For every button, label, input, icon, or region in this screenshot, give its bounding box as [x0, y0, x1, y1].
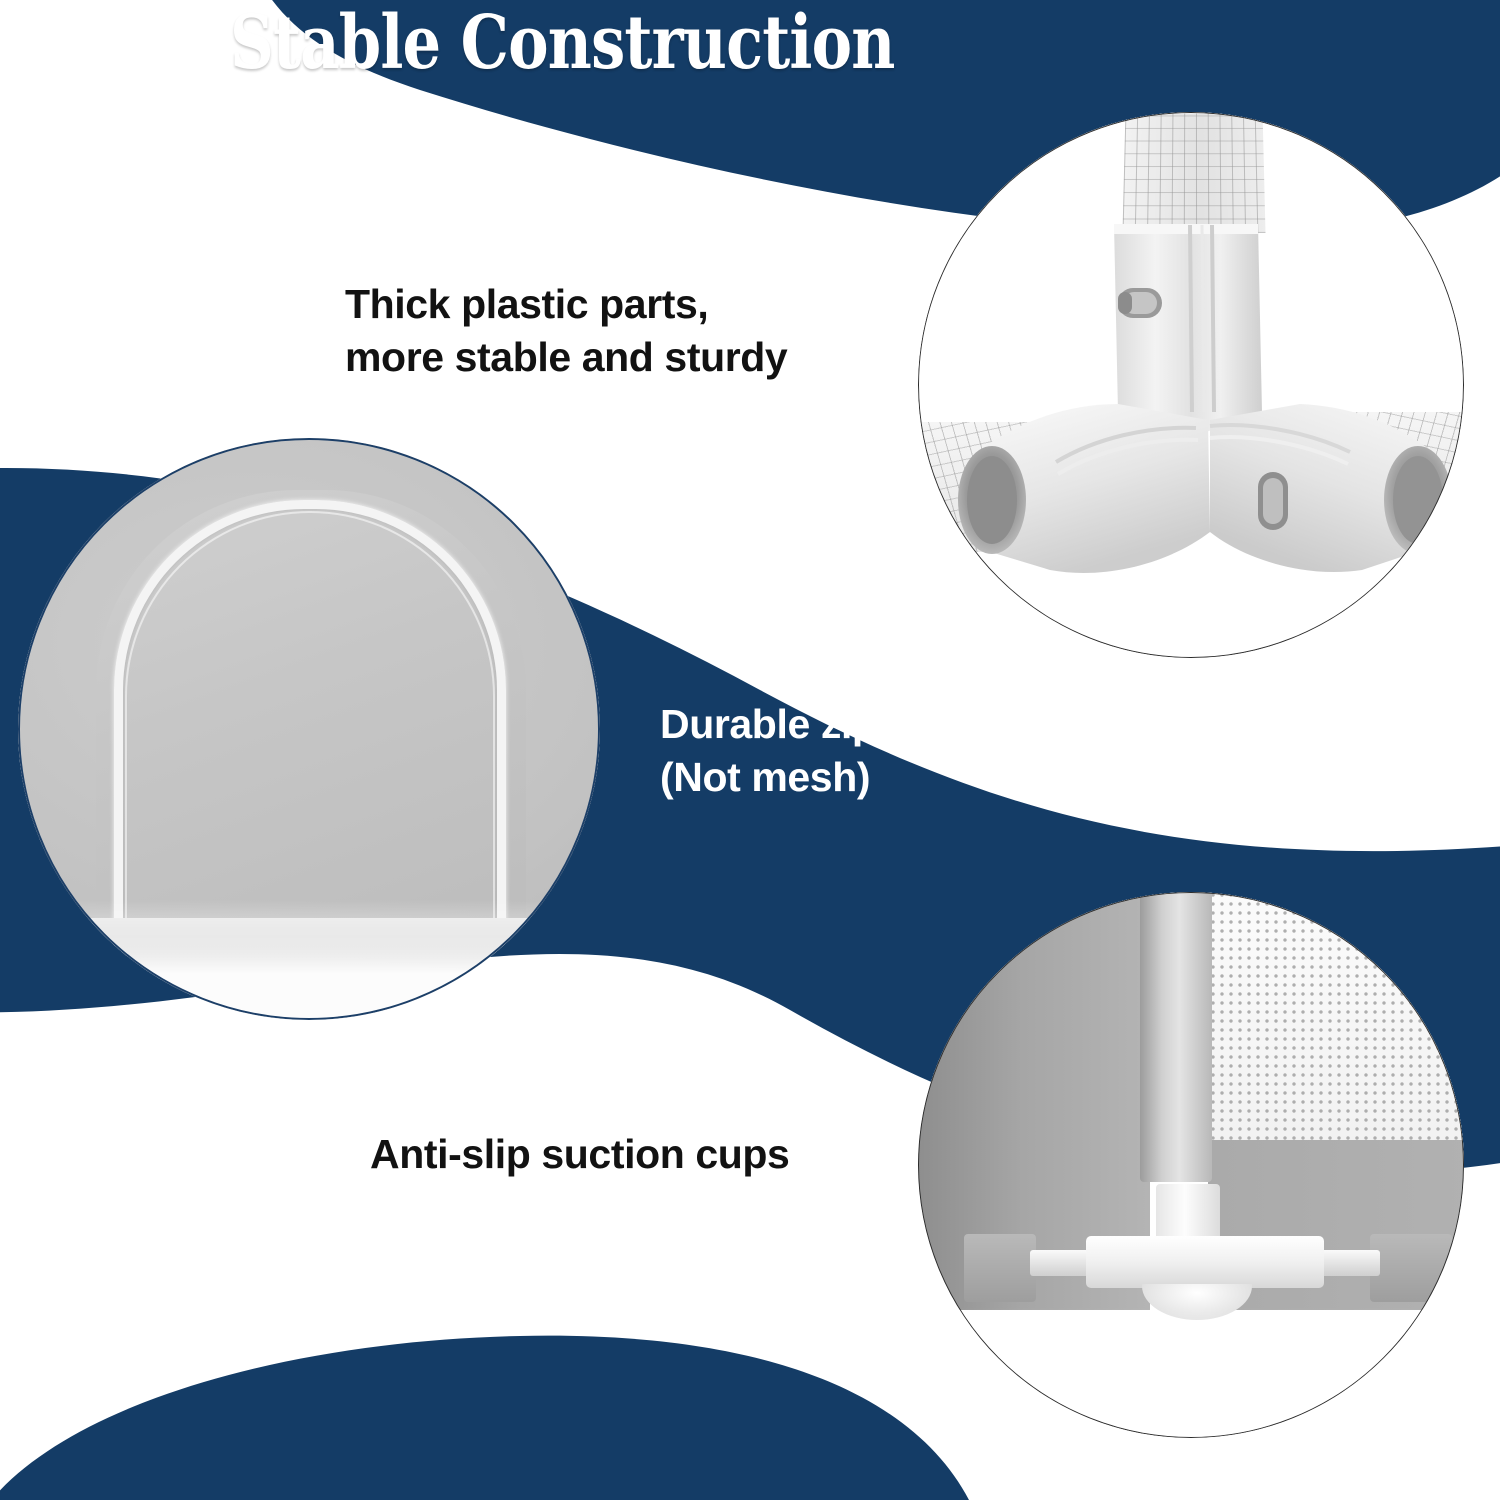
corner-connector-illustration: [918, 112, 1464, 658]
zipper-outline-icon: [114, 500, 506, 952]
fabric-foot-right: [1370, 1234, 1452, 1302]
callout-durable-zipper-door: Durable zipper door (Not mesh): [660, 698, 1040, 805]
photo-corner-connector: [918, 112, 1464, 658]
horizontal-rail-left: [1030, 1250, 1092, 1276]
vertical-tube: [1140, 892, 1212, 1182]
fabric-foot-left: [964, 1234, 1036, 1302]
callout-anti-slip-suction-cups: Anti-slip suction cups: [370, 1128, 789, 1181]
t-connector-bar: [1086, 1236, 1324, 1288]
page-title: Stable Construction: [230, 2, 837, 85]
callout-thick-plastic-parts: Thick plastic parts, more stable and stu…: [345, 278, 787, 385]
bottom-blob-shape: [0, 1336, 990, 1500]
floor-fade: [918, 1308, 1464, 1438]
corner-connector-shape: [918, 112, 1464, 658]
photo-zipper-door: [18, 438, 600, 1020]
mesh-panel-icon: [1210, 892, 1464, 1140]
door-bottom-fade: [18, 900, 600, 1020]
suction-cup-illustration: [918, 892, 1464, 1438]
zipper-door-illustration: [18, 438, 600, 1020]
horizontal-rail-right: [1318, 1250, 1380, 1276]
photo-suction-cup: [918, 892, 1464, 1438]
infographic-poster: Stable Construction: [0, 0, 1500, 1500]
